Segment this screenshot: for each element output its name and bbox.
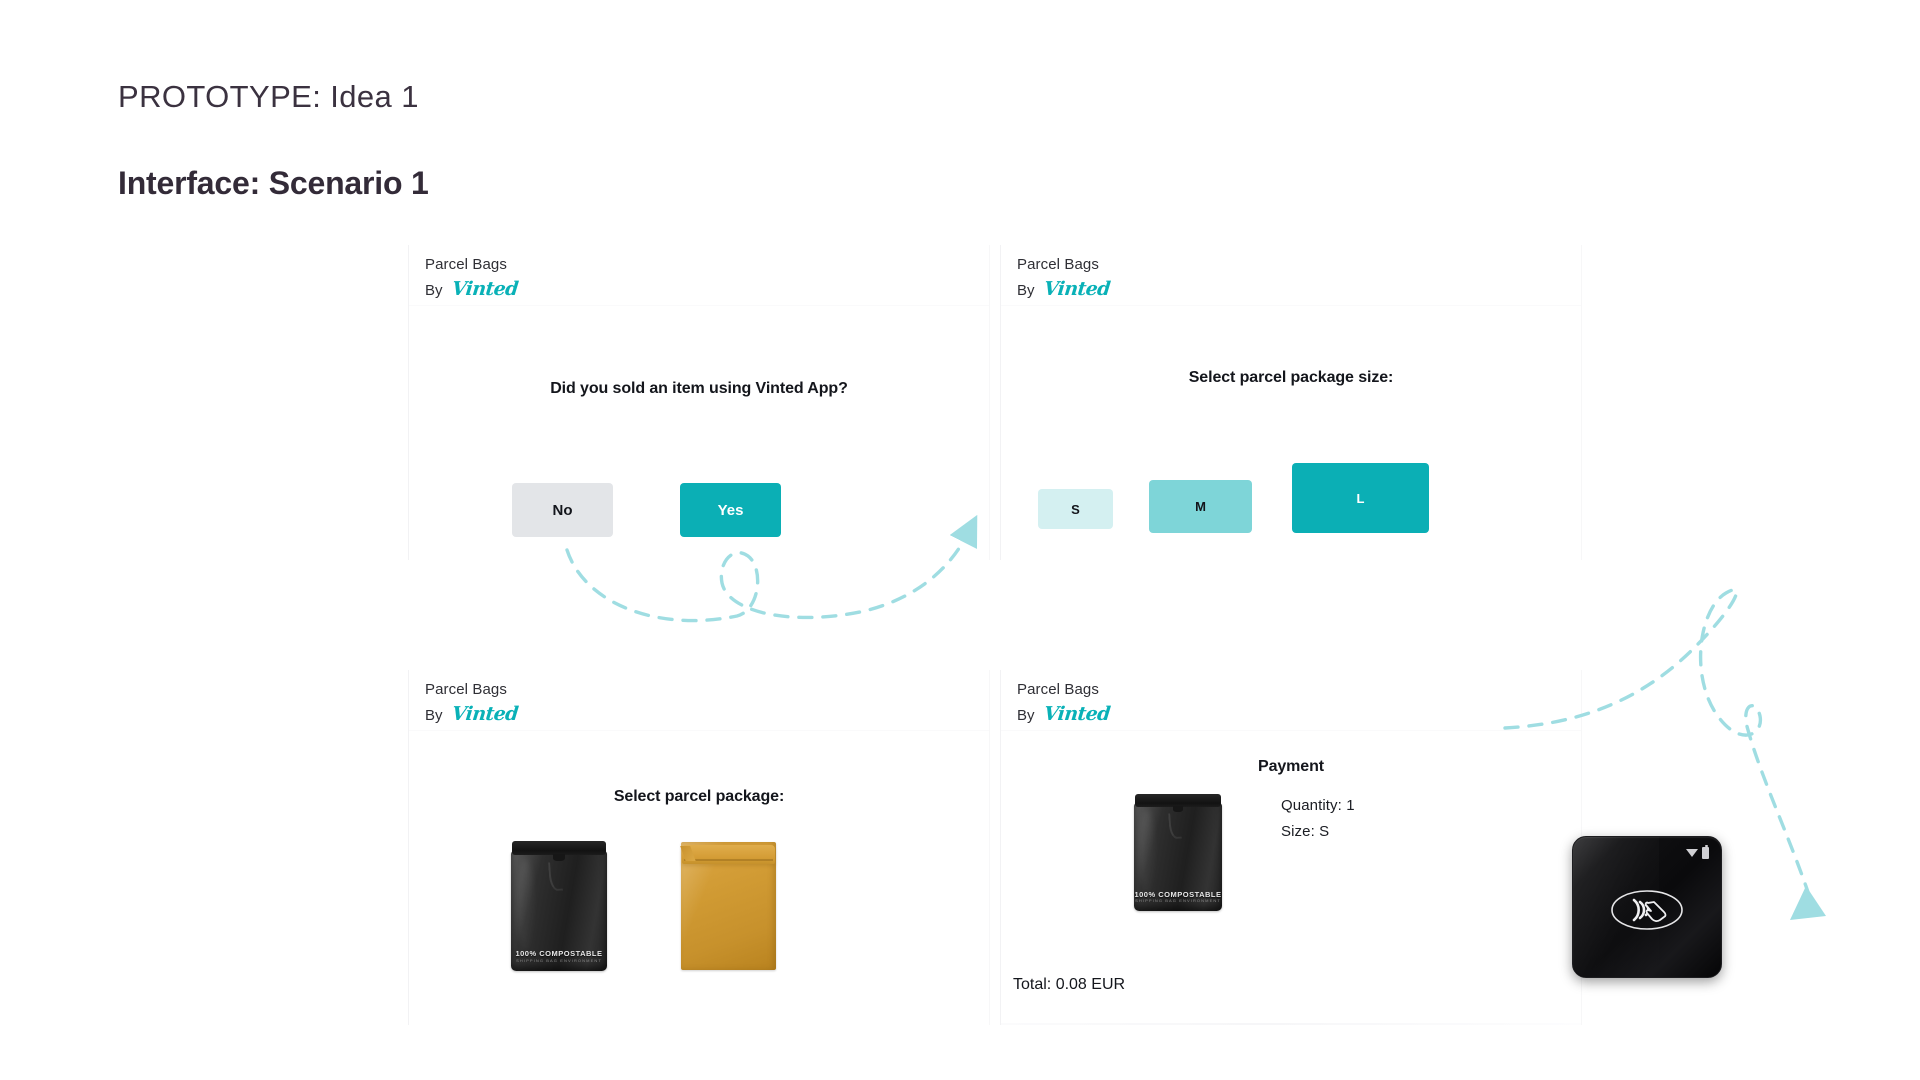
vinted-logo: Vinted: [450, 278, 518, 300]
brand-product-name: Parcel Bags: [1017, 680, 1110, 700]
panel-brand-header: Parcel Bags By Vinted: [1017, 680, 1110, 725]
size-option-m[interactable]: M: [1149, 480, 1252, 533]
screen-package: Parcel Bags By Vinted Select parcel pack…: [408, 670, 990, 1025]
screen-payment: Parcel Bags By Vinted Payment 100% COMPO…: [1000, 670, 1582, 1025]
panel-divider: [409, 730, 989, 731]
mailer-tab: [553, 854, 565, 861]
size-option-l[interactable]: L: [1292, 463, 1429, 533]
vinted-logo: Vinted: [1042, 703, 1110, 725]
mailer-sheen: [517, 859, 534, 950]
brand-by-label: By: [425, 707, 443, 724]
vinted-logo: Vinted: [450, 703, 518, 725]
prototype-label: PROTOTYPE: Idea 1: [118, 79, 419, 115]
mailer-flap: [1135, 794, 1221, 807]
payment-total: Total: 0.08 EUR: [1013, 976, 1125, 994]
screen-size: Parcel Bags By Vinted Select parcel pack…: [1000, 245, 1582, 560]
screen-question: Parcel Bags By Vinted Did you sold an it…: [408, 245, 990, 560]
mailer-sublabel: SHIPPING BAG ENVIRONMENT: [511, 958, 607, 963]
brand-product-name: Parcel Bags: [425, 255, 518, 275]
envelope-illustration: [681, 842, 776, 970]
answer-yes-button[interactable]: Yes: [680, 483, 781, 537]
size-question-text: Select parcel package size:: [1001, 369, 1581, 387]
wifi-icon: [1686, 849, 1698, 857]
panel-divider: [1001, 305, 1581, 306]
panel-brand-header: Parcel Bags By Vinted: [425, 255, 518, 300]
payment-title: Payment: [1001, 758, 1581, 776]
package-option-compostable-mailer[interactable]: 100% COMPOSTABLE SHIPPING BAG ENVIRONMEN…: [511, 841, 607, 971]
battery-icon: [1702, 847, 1709, 859]
brand-by-label: By: [1017, 707, 1035, 724]
page-title: Interface: Scenario 1: [118, 165, 429, 202]
mailer-sublabel: SHIPPING BAG ENVIRONMENT: [1134, 898, 1222, 903]
contactless-nfc-icon: [1610, 888, 1684, 932]
answer-no-button[interactable]: No: [512, 483, 613, 537]
contactless-card-reader[interactable]: [1572, 836, 1722, 978]
brand-by-label: By: [1017, 282, 1035, 299]
prototype-canvas: PROTOTYPE: Idea 1 Interface: Scenario 1 …: [0, 0, 1920, 1080]
brand-product-name: Parcel Bags: [425, 680, 518, 700]
panel-bottom-edge: [1001, 1023, 1581, 1025]
brand-by-label: By: [425, 282, 443, 299]
payment-product-thumbnail: 100% COMPOSTABLE SHIPPING BAG ENVIRONMEN…: [1134, 794, 1222, 911]
panel-brand-header: Parcel Bags By Vinted: [425, 680, 518, 725]
panel-divider: [409, 305, 989, 306]
mailer-illustration: 100% COMPOSTABLE SHIPPING BAG ENVIRONMEN…: [1134, 794, 1222, 911]
arrow-payment-to-terminal-head: [1790, 886, 1826, 920]
package-option-kraft-envelope[interactable]: [681, 842, 776, 970]
payment-size: Size: S: [1281, 823, 1329, 840]
mailer-tab: [1173, 806, 1184, 812]
payment-quantity: Quantity: 1: [1281, 797, 1355, 814]
vinted-logo: Vinted: [1042, 278, 1110, 300]
size-option-s[interactable]: S: [1038, 489, 1113, 529]
mailer-illustration: 100% COMPOSTABLE SHIPPING BAG ENVIRONMEN…: [511, 841, 607, 971]
brand-product-name: Parcel Bags: [1017, 255, 1110, 275]
question-text: Did you sold an item using Vinted App?: [409, 380, 989, 398]
terminal-status-icons: [1686, 847, 1709, 859]
panel-brand-header: Parcel Bags By Vinted: [1017, 255, 1110, 300]
panel-divider: [1001, 730, 1581, 731]
envelope-flap-edge: [684, 859, 773, 861]
package-question-text: Select parcel package:: [409, 788, 989, 806]
